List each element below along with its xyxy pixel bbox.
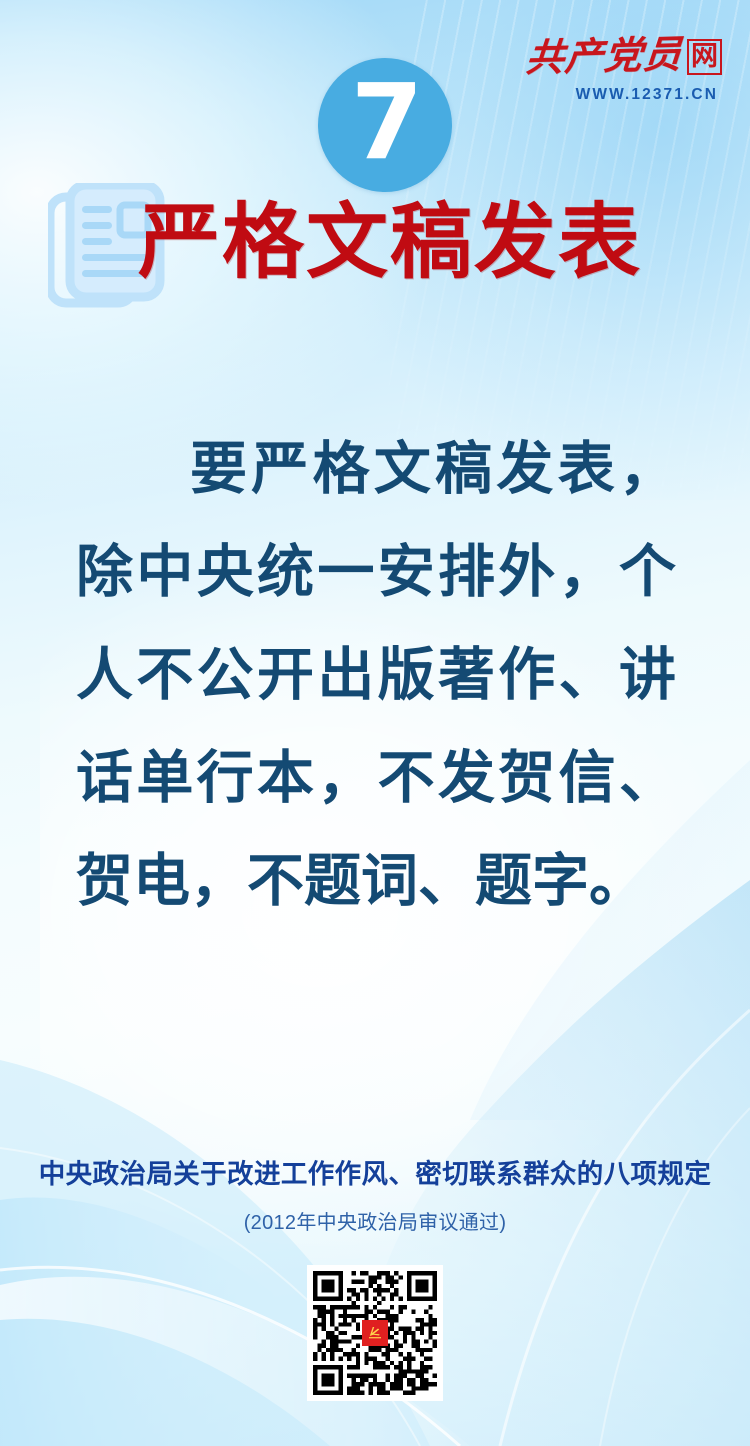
poster-canvas: 共产党员 网 WWW.12371.CN 7 严格文稿发表 要严格文稿发表，除中央… bbox=[0, 0, 750, 1446]
page-title: 严格文稿发表 bbox=[138, 202, 642, 284]
footer-subtitle: (2012年中央政治局审议通过) bbox=[0, 1206, 750, 1235]
rule-number-value: 7 bbox=[351, 70, 423, 174]
site-logo[interactable]: 共产党员 网 WWW.12371.CN bbox=[502, 34, 722, 104]
rule-body-text: 要严格文稿发表，除中央统一安排外，个人不公开出版著作、讲话单行本，不发贺信、贺电… bbox=[76, 418, 676, 933]
logo-url: WWW.12371.CN bbox=[502, 86, 722, 104]
logo-mark: 共产党员 网 bbox=[502, 34, 722, 80]
qr-code[interactable] bbox=[307, 1265, 443, 1401]
logo-box-text: 网 bbox=[687, 39, 722, 75]
rule-number-badge: 7 bbox=[318, 58, 452, 192]
footer-title: 中央政治局关于改进工作作风、密切联系群众的八项规定 bbox=[0, 1152, 750, 1191]
party-emblem-icon bbox=[362, 1320, 388, 1346]
logo-script-text: 共产党员 bbox=[524, 36, 683, 78]
